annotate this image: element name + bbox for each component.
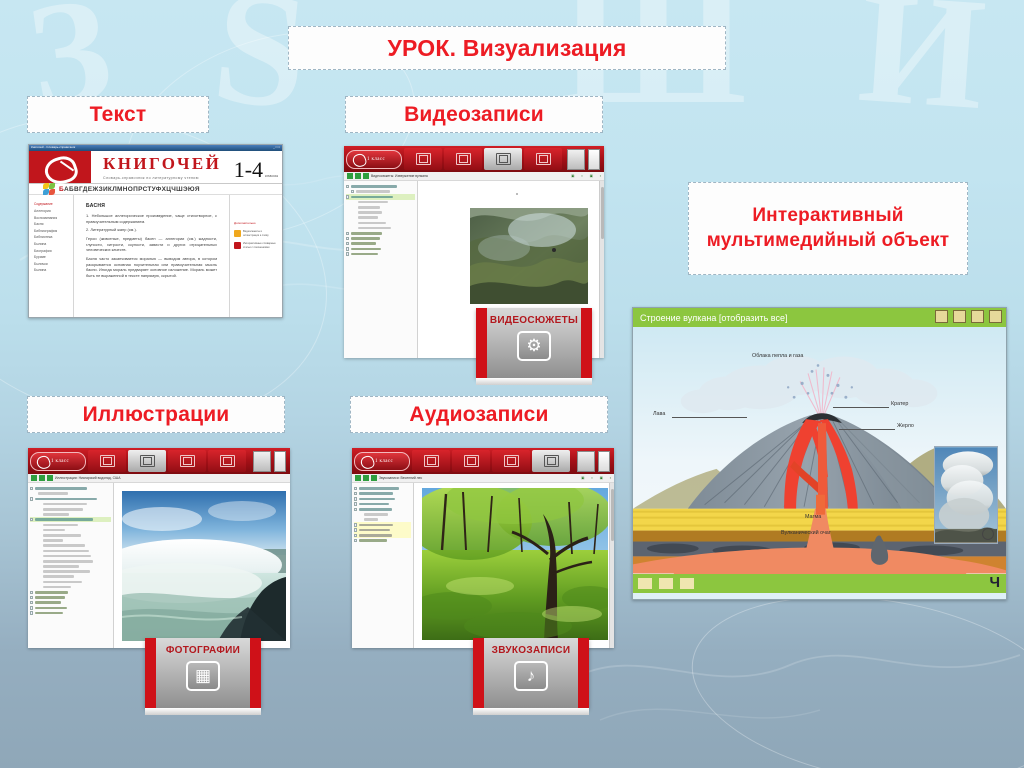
tab-help[interactable]: [598, 451, 610, 472]
nav-forward-icon[interactable]: [355, 173, 361, 179]
forest-photo[interactable]: [422, 488, 608, 640]
tab-video[interactable]: [168, 450, 206, 472]
photo-path-bar: Иллюстрации: Ниагарский водопад, США: [28, 474, 290, 483]
video-badge-label: ВИДЕОСЮЖЕТЫ: [490, 315, 578, 326]
volcano-toolbar[interactable]: [935, 310, 1002, 323]
video-badge-button[interactable]: ВИДЕОСЮЖЕТЫ ⚙: [476, 308, 592, 378]
video-tree[interactable]: [344, 181, 418, 358]
audio-badge-label: ЗВУКОЗАПИСИ: [492, 645, 571, 656]
label-magma: Магма: [805, 514, 821, 520]
video-frame-image[interactable]: [470, 208, 588, 304]
tab-text[interactable]: [88, 450, 126, 472]
tab-tests[interactable]: [567, 149, 585, 170]
slide-title: УРОК. Визуализация: [288, 26, 726, 70]
fullscreen-icon[interactable]: [971, 310, 984, 323]
video-toolbar-right: [567, 149, 602, 170]
book-article-paragraph: Басня часто заканчивается моралью — выво…: [86, 256, 217, 279]
book-extras-header: Дополнительно: [234, 221, 278, 225]
canvas-dot: [516, 193, 518, 195]
tab-audio[interactable]: [208, 450, 246, 472]
book-sidebar-item[interactable]: Былина: [34, 242, 69, 246]
app-logo-icon[interactable]: 1 класс: [30, 452, 86, 471]
caption-video: Видеозаписи: [345, 96, 603, 133]
photo-path: Иллюстрации: Ниагарский водопад, США: [55, 476, 120, 480]
camera-icon[interactable]: [659, 578, 673, 589]
photo-toolbar: 1 класс ИЛЛЮСТРАЦИИ: [28, 448, 290, 474]
knigochey-logo-icon: [29, 151, 91, 183]
photo-badge-button[interactable]: ФОТОГРАФИИ ▦: [145, 638, 261, 708]
audio-badge-button[interactable]: ЗВУКОЗАПИСИ ♪: [473, 638, 589, 708]
photo-toolbar-right: [253, 451, 288, 472]
badge-base: [145, 708, 261, 715]
video-toolbar: 1 класс ВИДЕОСЮЖЕТЫ: [344, 146, 604, 172]
book-extras-text: Интерактивные словарные статьи с пояснен…: [243, 242, 278, 249]
book-article-heading: БАСНЯ: [86, 203, 217, 209]
tab-tests[interactable]: [253, 451, 271, 472]
video-scrollbar[interactable]: [599, 181, 604, 358]
book-grade-suffix: классы: [265, 173, 278, 178]
book-header: КНИГОЧЕЙ Словарь-справочник по литератур…: [29, 151, 282, 184]
tab-illustrations[interactable]: [444, 148, 482, 170]
photo-screenshot: 1 класс ИЛЛЮСТРАЦИИ Иллюстрации: Ниагарс…: [28, 448, 290, 648]
volcano-title-bar: Строение вулкана [отобразить все]: [633, 308, 1006, 327]
waterfall-photo[interactable]: [122, 491, 286, 641]
book-alphabet-letters[interactable]: АБВГДЕЖЗИКЛМНОПРСТУФХЦЧШЭЮЯ: [64, 186, 200, 193]
export-icon[interactable]: [989, 310, 1002, 323]
app-logo-icon[interactable]: 1 класс: [354, 452, 410, 471]
book-sidebar-item[interactable]: Воспоминания: [34, 216, 69, 220]
book-sidebar-item[interactable]: Буриме: [34, 255, 69, 259]
video-path-tools[interactable]: ▣▪▣▪: [571, 174, 601, 178]
magnifier-icon[interactable]: [953, 310, 966, 323]
label-vent: Жерло: [897, 423, 914, 429]
tab-audio[interactable]: ЗВУКОЗАПИСИ: [532, 450, 570, 472]
book-grade-number: 1-4: [234, 160, 263, 180]
book-sidebar-item[interactable]: Библиотека: [34, 235, 69, 239]
audio-path: Звукозаписи: Весенний лес: [379, 476, 422, 480]
volcano-stage: P: [633, 327, 1006, 574]
tab-illustrations[interactable]: [452, 450, 490, 472]
flower-decor-icon: [43, 183, 56, 196]
label-crater: Кратер: [891, 401, 908, 407]
book-brand: КНИГОЧЕЙ Словарь-справочник по литератур…: [91, 151, 230, 183]
interactive-extra-icon: [234, 242, 241, 249]
tab-help[interactable]: [588, 149, 600, 170]
audio-canvas: [414, 483, 609, 648]
app-logo-label: 1 класс: [375, 459, 393, 464]
photo-tree[interactable]: [28, 483, 114, 648]
audio-path-tools[interactable]: ▣▪▣▪: [581, 476, 611, 480]
book-extras-text: Видеосюжеты и иллюстрации к слову: [243, 230, 278, 237]
volcano-title: Строение вулкана [отобразить все]: [640, 313, 787, 323]
tab-video[interactable]: ВИДЕОСЮЖЕТЫ: [484, 148, 522, 170]
app-logo-label: 1 класс: [51, 459, 69, 464]
tab-illustrations[interactable]: ИЛЛЮСТРАЦИИ: [128, 450, 166, 472]
music-note-icon: ♪: [514, 661, 548, 691]
book-body: Содержание Аллегория Воспоминания Басня …: [29, 195, 282, 318]
nav-home-icon[interactable]: [47, 475, 53, 481]
tab-tests[interactable]: [577, 451, 595, 472]
volcano-interactive-object: Строение вулкана [отобразить все] P: [632, 307, 1007, 600]
book-extras-row[interactable]: Видеосюжеты и иллюстрации к слову: [234, 230, 278, 237]
nav-back-icon[interactable]: [347, 173, 353, 179]
book-sidebar-item[interactable]: Былина: [34, 268, 69, 272]
video-path-bar: Видеосюжеты: Извержение вулкана ▣▪▣▪: [344, 172, 604, 181]
tree-item[interactable]: [346, 251, 415, 256]
caption-interactive-object: Интерактивный мультимедийный объект: [688, 182, 968, 275]
tree-item[interactable]: [354, 538, 411, 543]
photo-main: [28, 483, 290, 648]
book-icon[interactable]: [935, 310, 948, 323]
book-sidebar[interactable]: Содержание Аллегория Воспоминания Басня …: [29, 195, 73, 318]
audio-main: [352, 483, 614, 648]
tab-text[interactable]: [412, 450, 450, 472]
book-article-paragraph: 2. Литературный жанр (см.).: [86, 227, 217, 233]
tab-audio[interactable]: [524, 148, 562, 170]
book-article-paragraph: Герои (животные, предметы) басен — аллег…: [86, 236, 217, 253]
app-logo-icon[interactable]: 1 класс: [346, 150, 402, 169]
tab-help[interactable]: [274, 451, 286, 472]
book-sidebar-item[interactable]: Аллегория: [34, 209, 69, 213]
book-sidebar-item[interactable]: Былички: [34, 262, 69, 266]
label-magma-chamber: Вулканический очаг: [781, 530, 831, 536]
badge-base: [473, 708, 589, 715]
book-brand-subtitle: Словарь-справочник по литературному чтен…: [103, 176, 230, 180]
book-window-buttons[interactable]: _ □ ×: [273, 145, 280, 149]
book-sidebar-header: Содержание: [34, 202, 69, 206]
photo-badge-label: ФОТОГРАФИИ: [166, 645, 240, 656]
leader-line-lava: [672, 417, 747, 418]
leader-line-vent: [839, 429, 895, 430]
nav-home-icon[interactable]: [371, 475, 377, 481]
caption-audio: Аудиозаписи: [350, 396, 608, 433]
app-logo-label: 1 класс: [367, 157, 385, 162]
book-screenshot: Книгочей - Словарь-справочник _ □ × КНИГ…: [28, 144, 283, 318]
audio-tree[interactable]: [352, 483, 414, 648]
badge-base: [476, 378, 592, 385]
photo-canvas: [114, 483, 290, 648]
label-lava: Лава: [653, 411, 665, 417]
photo-film-icon: ▦: [186, 661, 220, 691]
video-path: Видеосюжеты: Извержение вулкана: [371, 174, 428, 178]
tab-video[interactable]: [492, 450, 530, 472]
volcano-bottom-bar: Ч: [633, 574, 1006, 593]
nav-forward-icon[interactable]: [363, 475, 369, 481]
tree-item[interactable]: [30, 611, 111, 616]
book-alphabet-bar[interactable]: Б АБВГДЕЖЗИКЛМНОПРСТУФХЦЧШЭЮЯ: [29, 184, 282, 195]
book-sidebar-item[interactable]: Басня: [34, 222, 69, 226]
book-extras-panel: Дополнительно Видеосюжеты и иллюстрации …: [230, 195, 282, 318]
audio-toolbar-right: [577, 451, 612, 472]
eruption-photo-thumb[interactable]: [934, 446, 998, 544]
film-reel-icon: ⚙: [517, 331, 551, 361]
audio-path-bar: Звукозаписи: Весенний лес ▣▪▣▪: [352, 474, 614, 483]
book-sidebar-item[interactable]: Библиография: [34, 229, 69, 233]
caption-illustrations: Иллюстрации: [27, 396, 285, 433]
nav-forward-icon[interactable]: [39, 475, 45, 481]
nav-back-icon[interactable]: [31, 475, 37, 481]
book-article-paragraph: 1. Небольшое аллегорическое произведение…: [86, 213, 217, 224]
back-arrow-icon[interactable]: [680, 578, 694, 589]
nav-home-icon[interactable]: [363, 173, 369, 179]
caption-text: Текст: [27, 96, 209, 133]
audio-screenshot: 1 класс ЗВУКОЗАПИСИ Звукозаписи: Весенни…: [352, 448, 614, 648]
book-grade: 1-4 классы: [230, 151, 282, 183]
tab-text[interactable]: [404, 148, 442, 170]
volcano-right-char: Ч: [989, 574, 1000, 591]
list-icon[interactable]: [638, 578, 652, 589]
nav-back-icon[interactable]: [355, 475, 361, 481]
magnifier-icon[interactable]: [982, 528, 994, 540]
book-article: БАСНЯ 1. Небольшое аллегорическое произв…: [73, 195, 230, 318]
audio-scrollbar[interactable]: [609, 483, 614, 648]
video-extra-icon: [234, 230, 241, 237]
book-brand-name: КНИГОЧЕЙ: [103, 154, 230, 174]
label-ash-clouds: Облака пепла и газа: [752, 353, 803, 359]
book-extras-row[interactable]: Интерактивные словарные статьи с пояснен…: [234, 242, 278, 249]
audio-toolbar: 1 класс ЗВУКОЗАПИСИ: [352, 448, 614, 474]
leader-line-crater: [833, 407, 889, 408]
book-window-title: Книгочей - Словарь-справочник: [31, 145, 75, 149]
book-sidebar-item[interactable]: Биография: [34, 249, 69, 253]
